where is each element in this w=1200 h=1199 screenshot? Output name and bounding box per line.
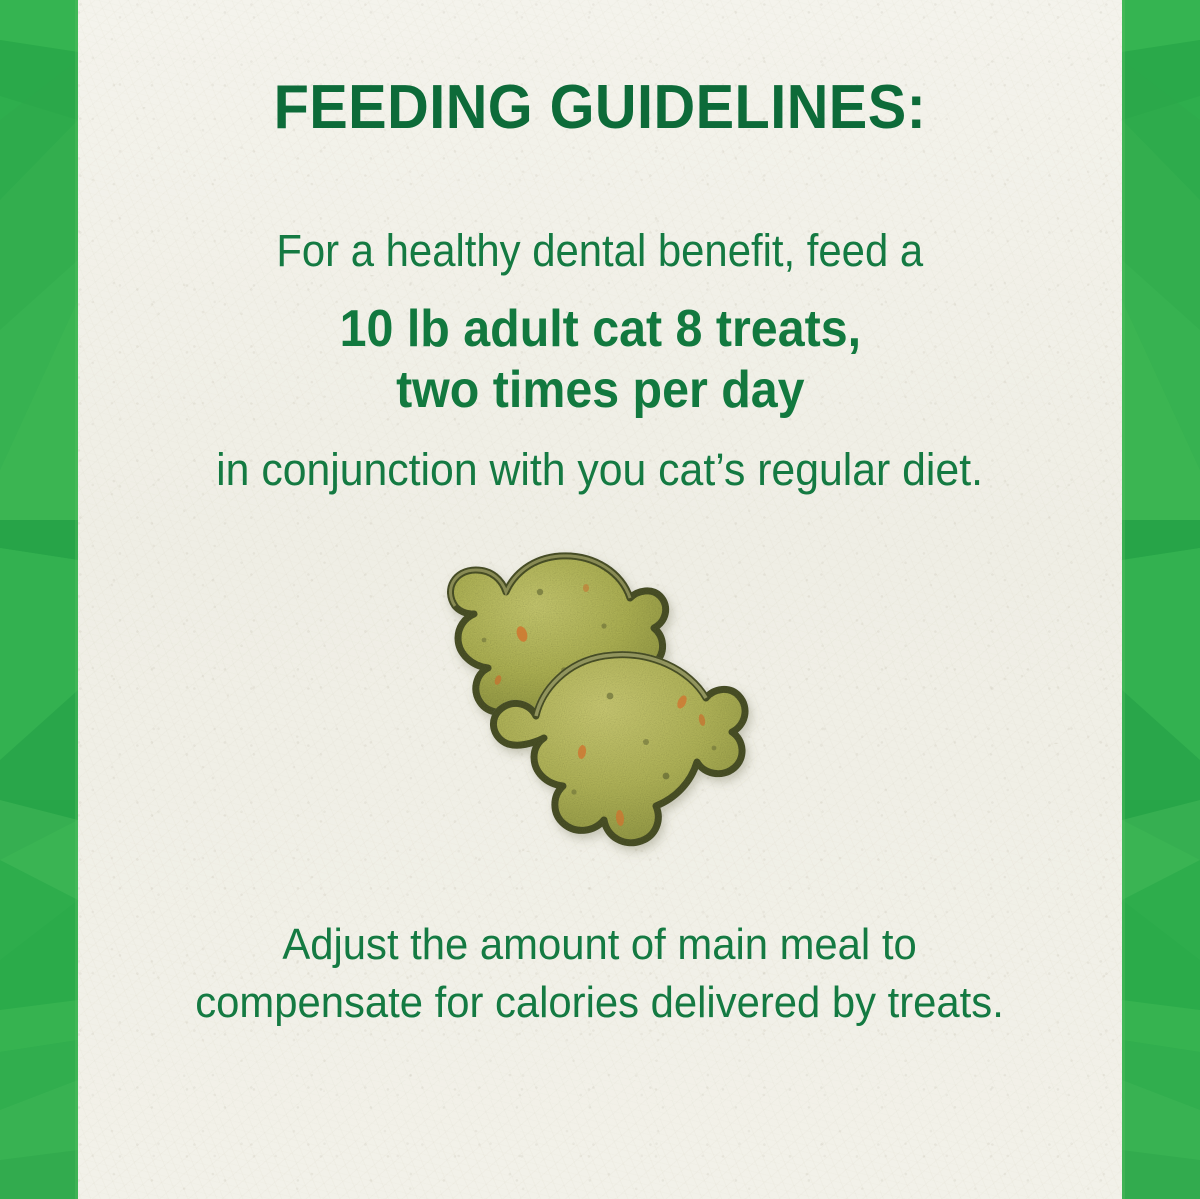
emphasis-line-2: two times per day <box>339 360 860 421</box>
footer-line-2: compensate for calories delivered by tre… <box>196 974 1005 1032</box>
right-panel-facets-graphic <box>1122 0 1200 1199</box>
emphasis-line-1: 10 lb adult cat 8 treats, <box>339 300 860 358</box>
emphasis-instruction-block: 10 lb adult cat 8 treats, two times per … <box>339 299 860 422</box>
page-title: FEEDING GUIDELINES: <box>274 72 927 143</box>
left-panel-facets-graphic <box>0 0 78 1199</box>
feeding-guidelines-panel: FEEDING GUIDELINES: For a healthy dental… <box>0 0 1200 1199</box>
treats-graphic <box>414 530 786 870</box>
content-column: FEEDING GUIDELINES: For a healthy dental… <box>78 0 1122 1199</box>
right-green-facet-panel <box>1122 0 1200 1199</box>
footer-line-1: Adjust the amount of main meal to <box>283 920 917 969</box>
footer-instruction-block: Adjust the amount of main meal to compen… <box>196 916 1005 1032</box>
left-green-facet-panel <box>0 0 78 1199</box>
lead-instruction-text: For a healthy dental benefit, feed a <box>277 225 924 277</box>
tail-instruction-text: in conjunction with you cat’s regular di… <box>217 444 984 496</box>
cat-dental-treats-image <box>414 530 786 870</box>
